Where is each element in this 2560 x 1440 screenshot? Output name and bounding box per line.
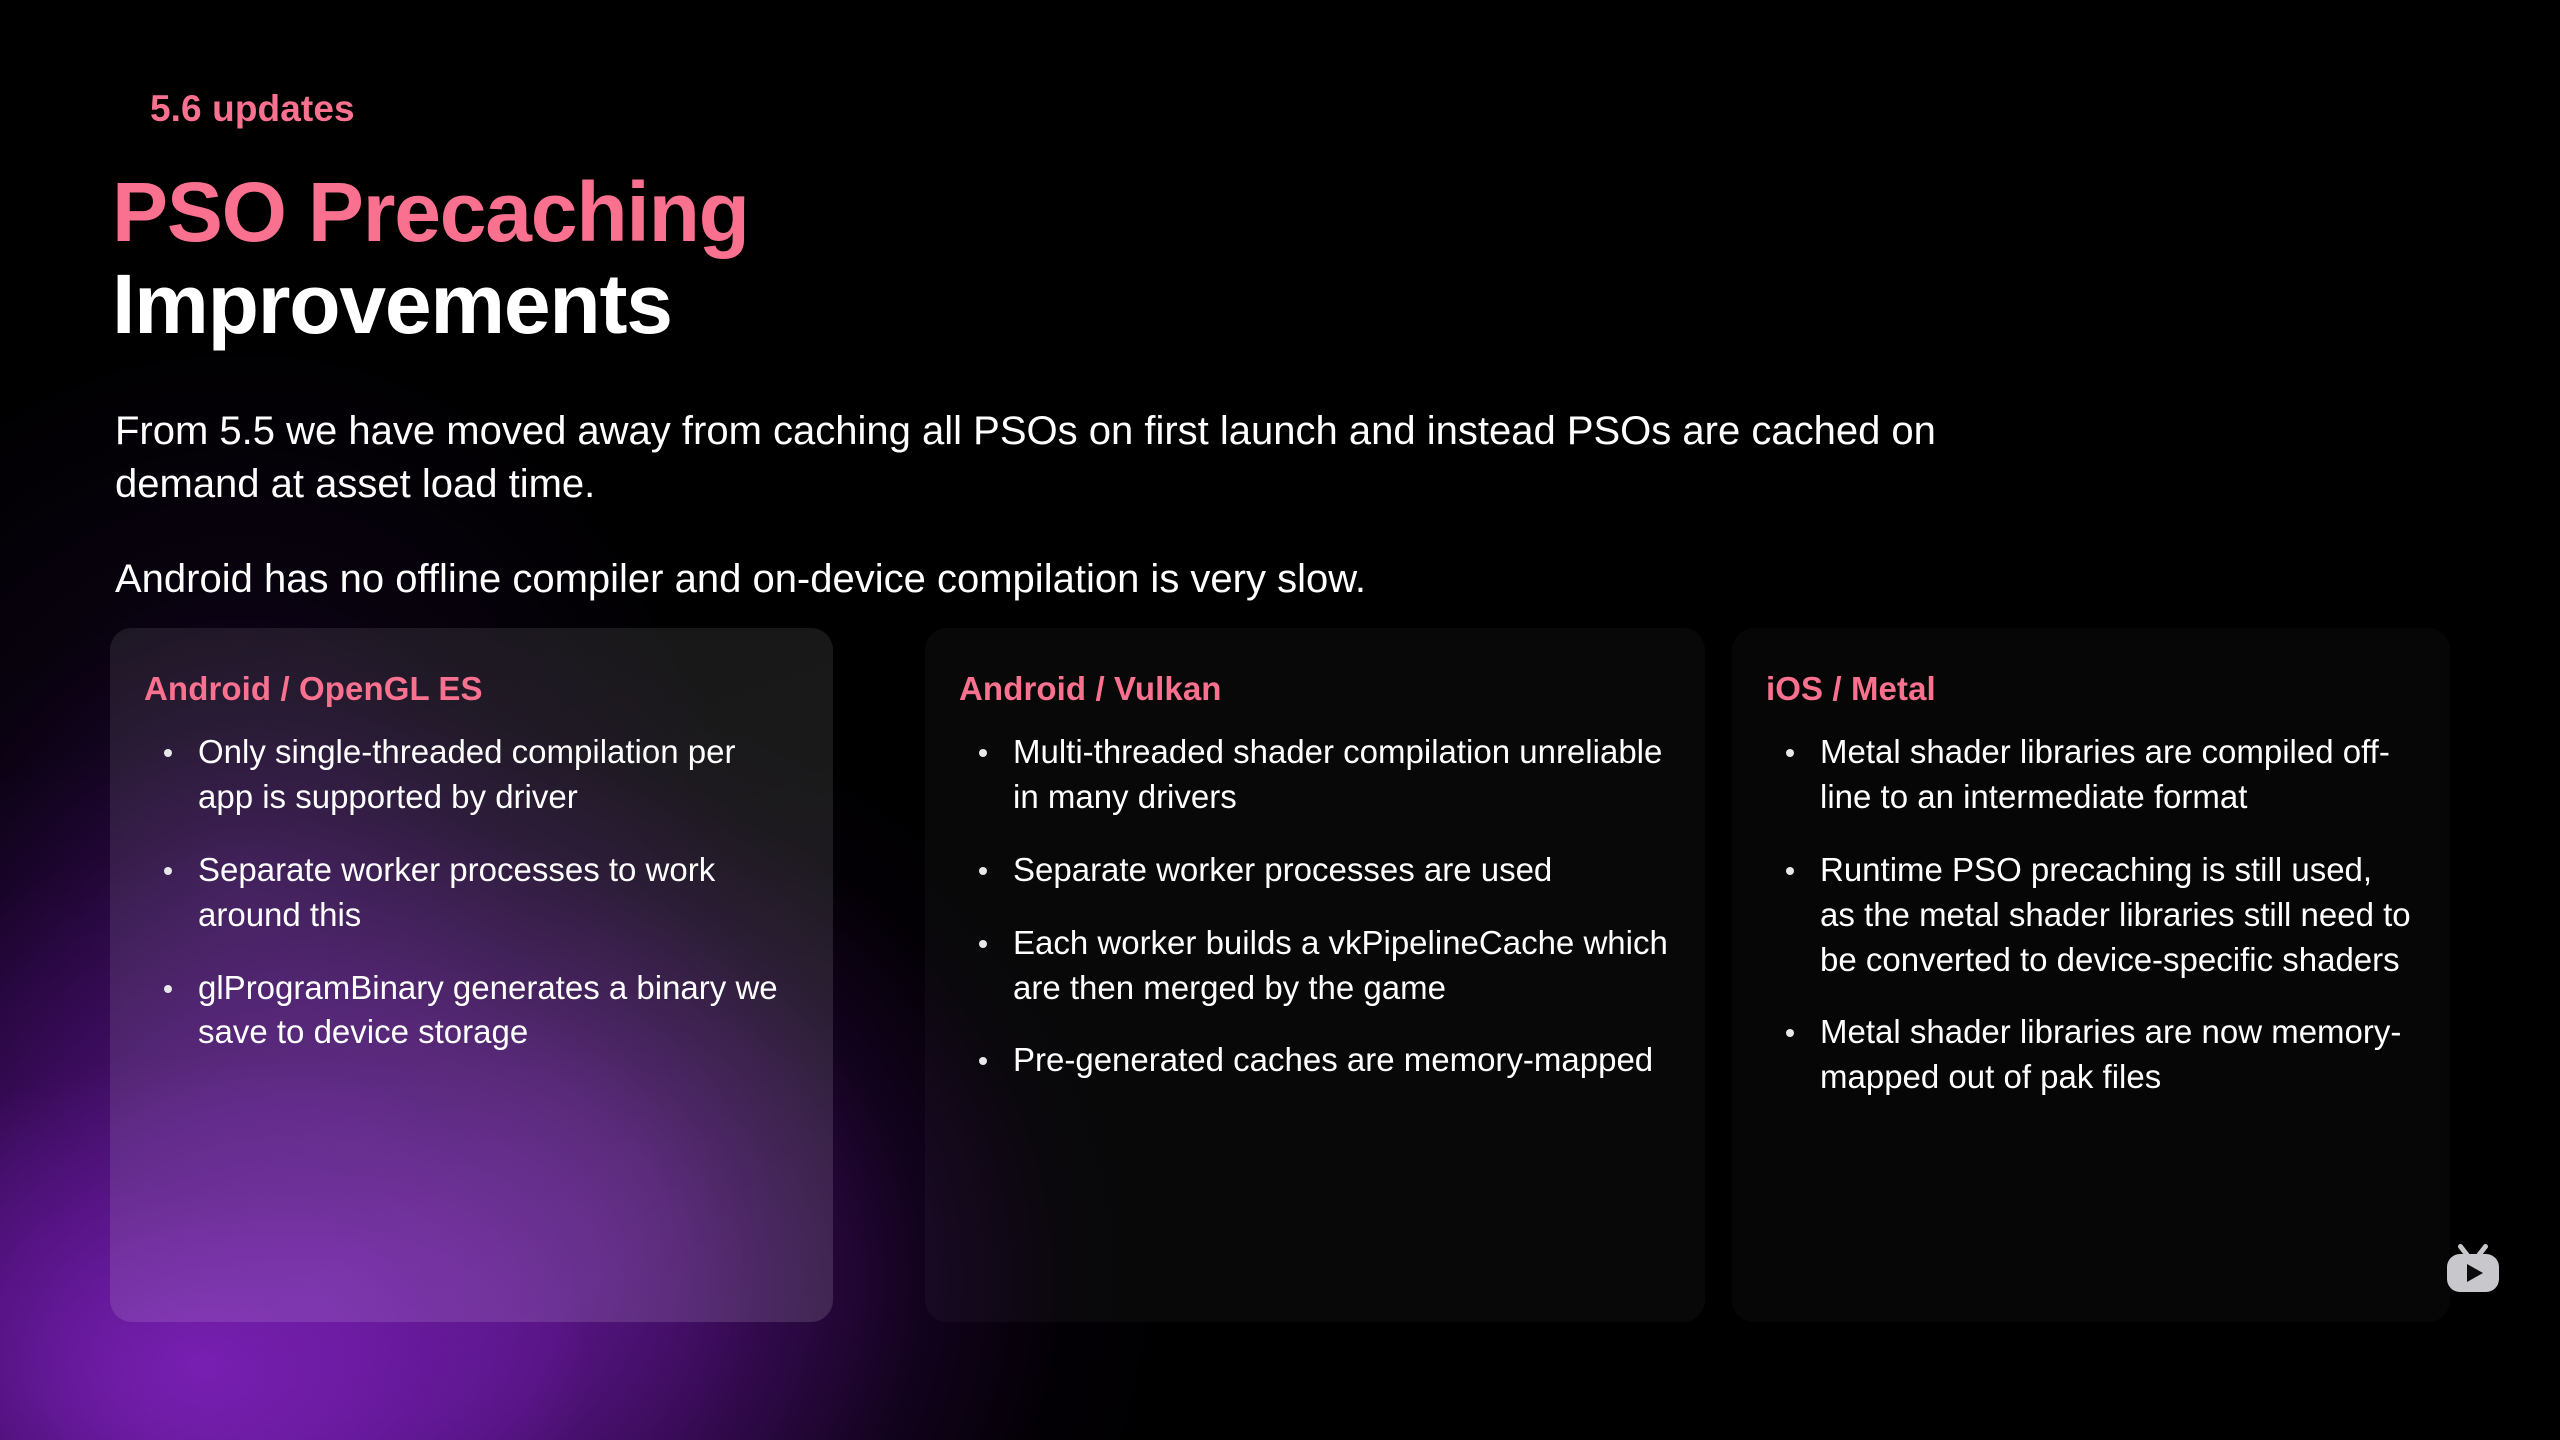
platform-card-title: Android / OpenGL ES xyxy=(144,670,799,708)
intro-text: From 5.5 we have moved away from caching… xyxy=(115,405,1945,605)
list-item: Pre-generated caches are memory-mapped xyxy=(959,1038,1671,1083)
list-item: Separate worker processes are used xyxy=(959,848,1671,893)
platform-card-bullet-list: Multi-threaded shader compilation unreli… xyxy=(959,730,1671,1083)
list-item: Only single-threaded compilation per app… xyxy=(144,730,799,820)
list-item: Separate worker processes to work around… xyxy=(144,848,799,938)
platform-card-bullet-list: Only single-threaded compilation per app… xyxy=(144,730,799,1055)
platform-cards-row: Android / OpenGL ES Only single-threaded… xyxy=(110,628,2450,1322)
list-item: Multi-threaded shader compilation unreli… xyxy=(959,730,1671,820)
tv-play-icon xyxy=(2442,1243,2504,1295)
platform-card-bullet-list: Metal shader libraries are compiled off-… xyxy=(1766,730,2416,1100)
presentation-slide: 5.6 updates PSO Precaching Improvements … xyxy=(0,0,2560,1440)
page-title-line-2: Improvements xyxy=(112,262,749,346)
platform-card-title: Android / Vulkan xyxy=(959,670,1671,708)
intro-paragraph-2: Android has no offline compiler and on-d… xyxy=(115,553,1945,606)
intro-paragraph-1: From 5.5 we have moved away from caching… xyxy=(115,405,1945,511)
slide-eyebrow: 5.6 updates xyxy=(150,88,355,130)
list-item: Metal shader libraries are now memory-ma… xyxy=(1766,1010,2416,1100)
page-title-line-1: PSO Precaching xyxy=(112,170,749,254)
platform-card-ios-metal: iOS / Metal Metal shader libraries are c… xyxy=(1732,628,2450,1322)
page-title: PSO Precaching Improvements xyxy=(112,170,749,346)
list-item: glProgramBinary generates a binary we sa… xyxy=(144,966,799,1056)
list-item: Runtime PSO precaching is still used, as… xyxy=(1766,848,2416,983)
list-item: Each worker builds a vkPipelineCache whi… xyxy=(959,921,1671,1011)
list-item: Metal shader libraries are compiled off-… xyxy=(1766,730,2416,820)
platform-card-title: iOS / Metal xyxy=(1766,670,2416,708)
platform-card-android-opengl-es: Android / OpenGL ES Only single-threaded… xyxy=(110,628,833,1322)
platform-card-android-vulkan: Android / Vulkan Multi-threaded shader c… xyxy=(925,628,1705,1322)
